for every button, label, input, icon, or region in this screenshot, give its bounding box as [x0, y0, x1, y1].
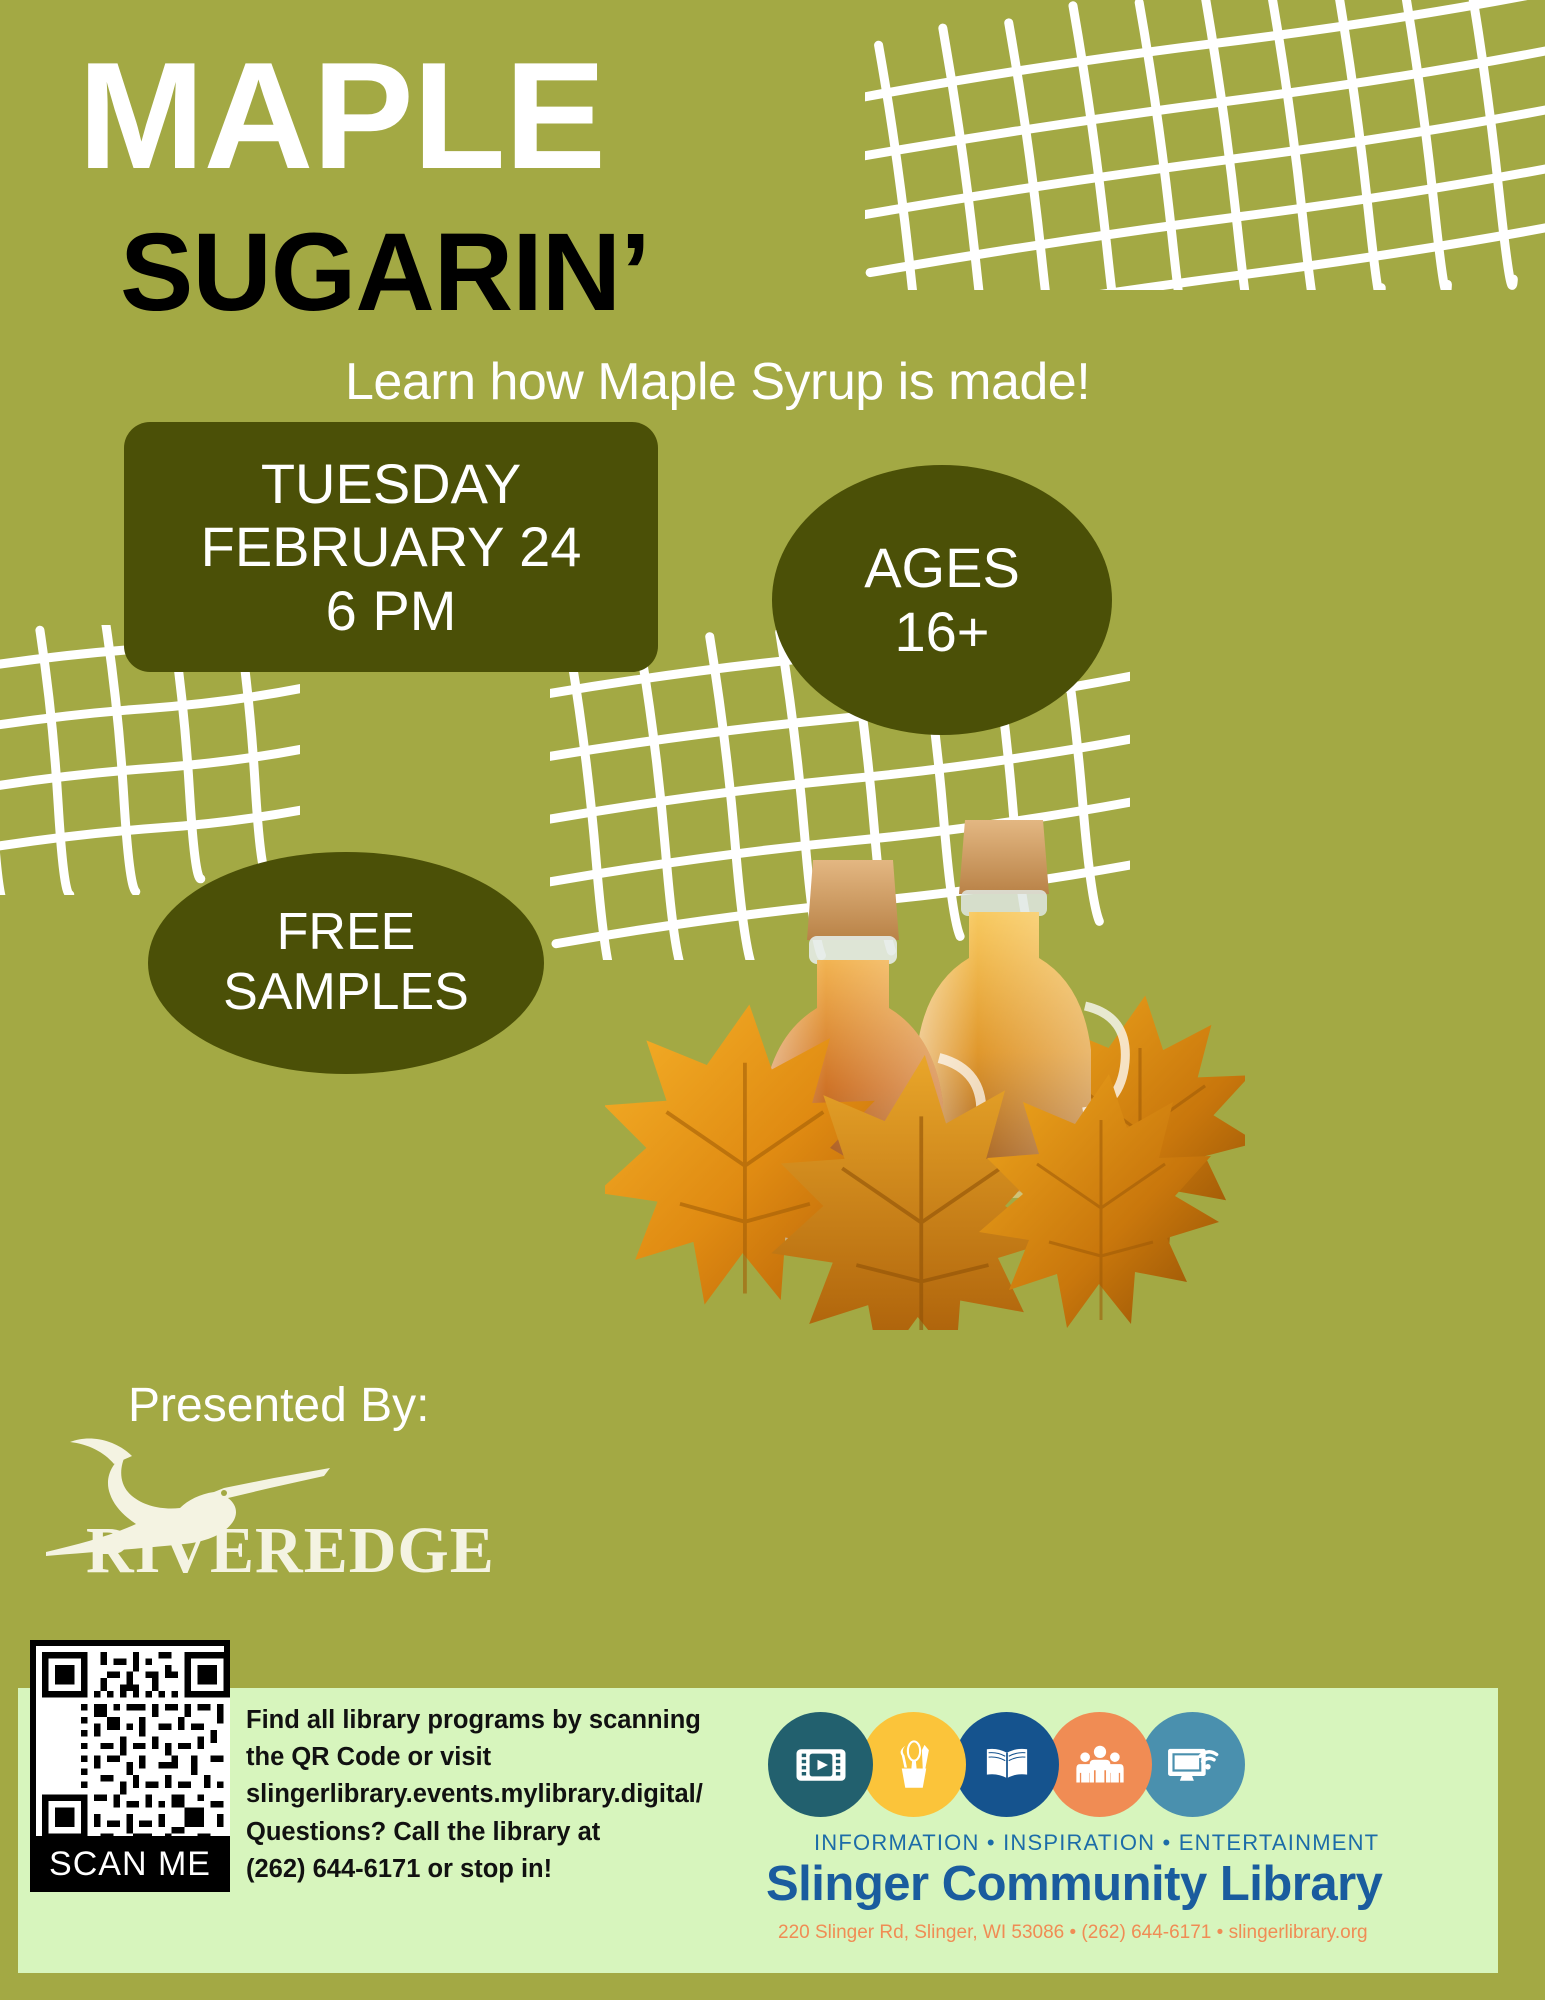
library-tagline: INFORMATION • INSPIRATION • ENTERTAINMEN… [814, 1830, 1379, 1856]
ages-value: 16+ [895, 600, 990, 664]
footer-line-2: the QR Code or visit [246, 1739, 726, 1776]
maple-syrup-bottles-photo [605, 800, 1245, 1330]
riveredge-logo: RIVEREDGE [28, 1432, 518, 1577]
event-date-box: TUESDAY FEBRUARY 24 6 PM [124, 422, 658, 672]
library-address: 220 Slinger Rd, Slinger, WI 53086 • (262… [778, 1922, 1368, 1944]
computer-wifi-icon [1140, 1712, 1245, 1817]
film-video-icon [768, 1712, 873, 1817]
free-label: FREE [277, 903, 416, 963]
footer-line-1: Find all library programs by scanning [246, 1702, 726, 1739]
footer-line-3[interactable]: slingerlibrary.events.mylibrary.digital/ [246, 1776, 726, 1813]
title-maple: MAPLE [78, 40, 605, 192]
family-people-icon [1047, 1712, 1152, 1817]
riveredge-wordmark: RIVEREDGE [86, 1514, 495, 1577]
scan-me-label: SCAN ME [30, 1836, 230, 1892]
poster-canvas: MAPLE SUGARIN’ Learn how Maple Syrup is … [0, 0, 1545, 2000]
art-supplies-icon [861, 1712, 966, 1817]
event-date: FEBRUARY 24 [201, 515, 582, 578]
open-book-icon [954, 1712, 1059, 1817]
presented-by-label: Presented By: [128, 1378, 430, 1433]
title-sugarin: SUGARIN’ [120, 218, 650, 328]
qr-code-icon[interactable] [42, 1652, 230, 1840]
slinger-library-logo: INFORMATION • INSPIRATION • ENTERTAINMEN… [760, 1712, 1490, 1977]
event-day: TUESDAY [261, 452, 521, 515]
footer-line-5: (262) 644-6171 or stop in! [246, 1851, 726, 1888]
free-samples-badge: FREE SAMPLES [148, 852, 544, 1074]
grid-top-right-decoration [865, 0, 1545, 290]
library-name: Slinger Community Library [766, 1856, 1382, 1912]
footer-line-4: Questions? Call the library at [246, 1814, 726, 1851]
page-subtitle: Learn how Maple Syrup is made! [345, 352, 1090, 412]
footer-instructions: Find all library programs by scanning th… [246, 1702, 726, 1888]
samples-label: SAMPLES [223, 963, 469, 1023]
ages-badge: AGES 16+ [772, 465, 1112, 735]
event-time: 6 PM [326, 579, 457, 642]
library-icon-row [768, 1712, 1233, 1817]
ages-label: AGES [864, 536, 1020, 600]
